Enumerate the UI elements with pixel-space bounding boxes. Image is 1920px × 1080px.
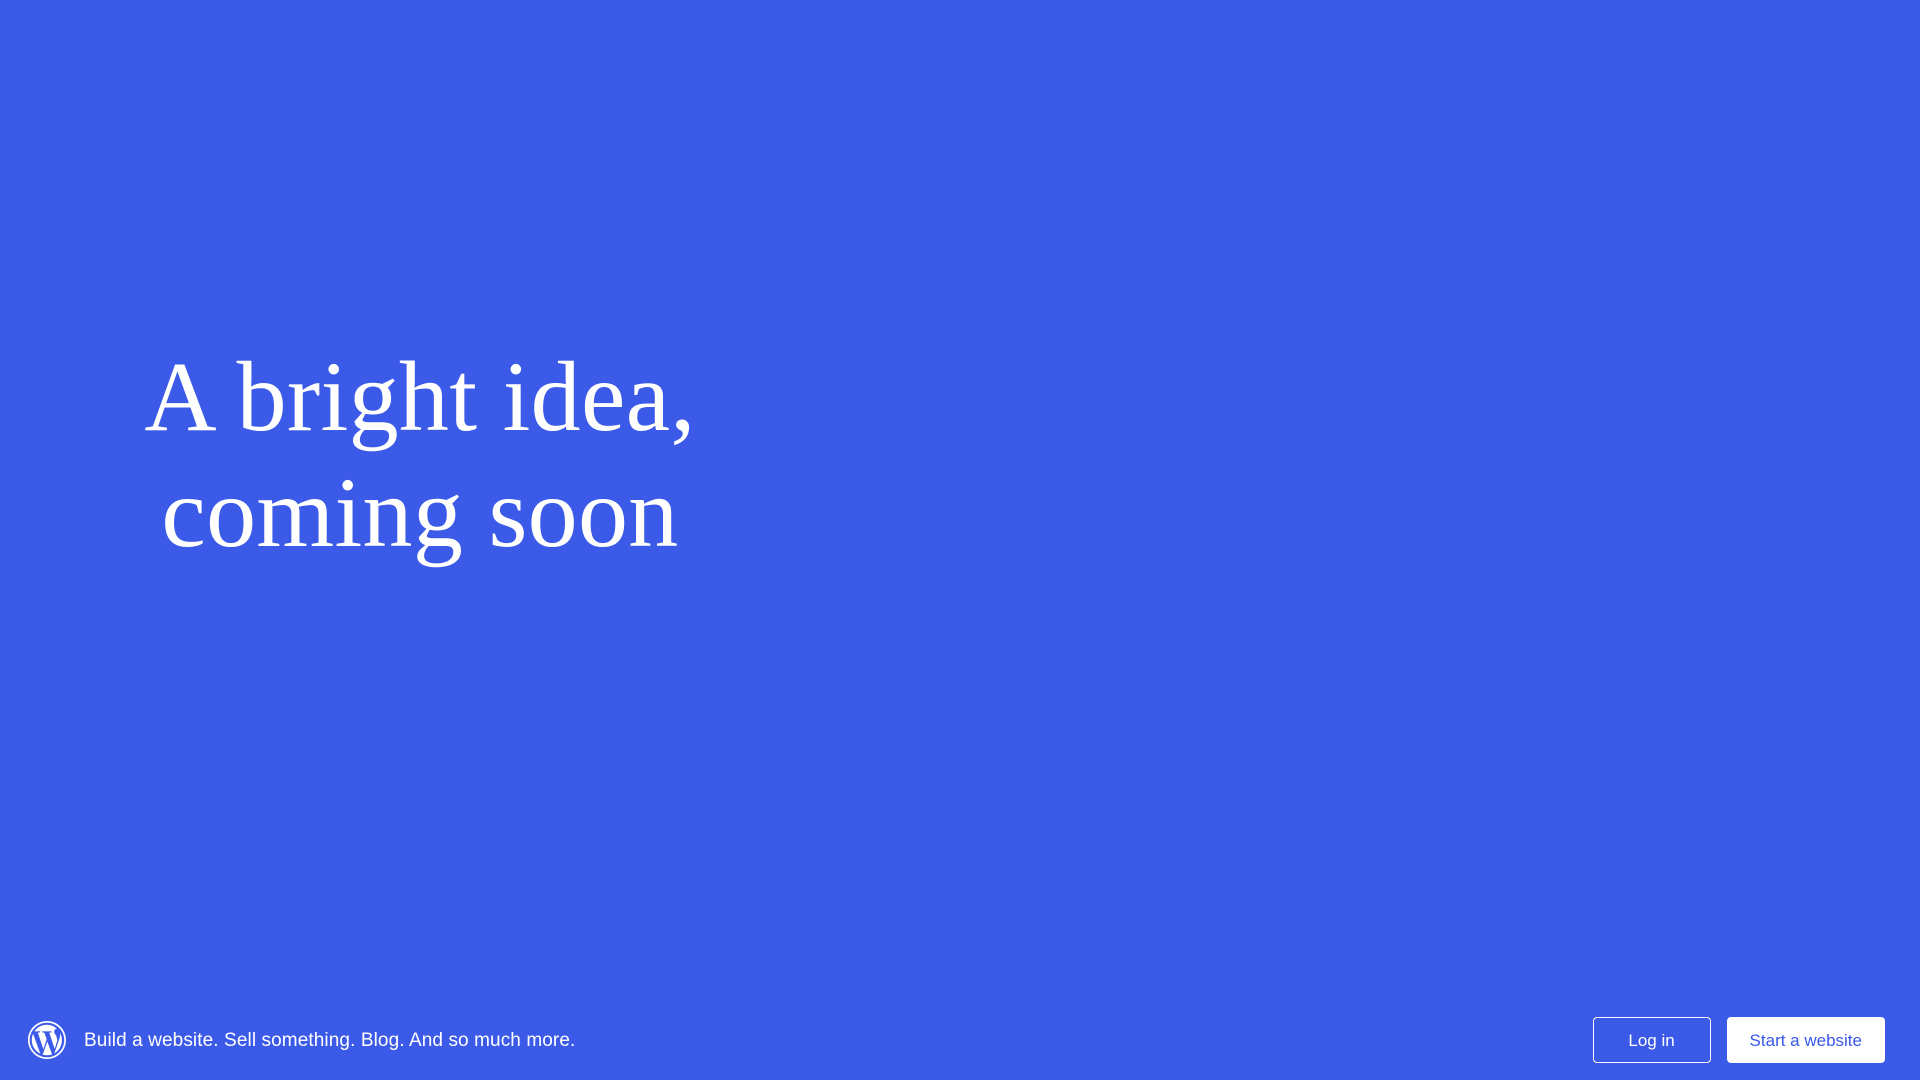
footer-actions: Log in Start a website	[1593, 1017, 1885, 1063]
footer-bar: Build a website. Sell something. Blog. A…	[0, 1000, 1920, 1080]
wordpress-logo-icon[interactable]	[28, 1021, 66, 1059]
log-in-button[interactable]: Log in	[1593, 1017, 1711, 1063]
hero-section: A bright idea, coming soon	[0, 0, 1920, 1000]
page-title: A bright idea, coming soon	[80, 339, 760, 571]
hero-content: A bright idea, coming soon	[0, 339, 760, 571]
footer-tagline: Build a website. Sell something. Blog. A…	[84, 1031, 575, 1050]
start-a-website-button[interactable]: Start a website	[1727, 1017, 1885, 1063]
footer-branding: Build a website. Sell something. Blog. A…	[28, 1021, 575, 1059]
